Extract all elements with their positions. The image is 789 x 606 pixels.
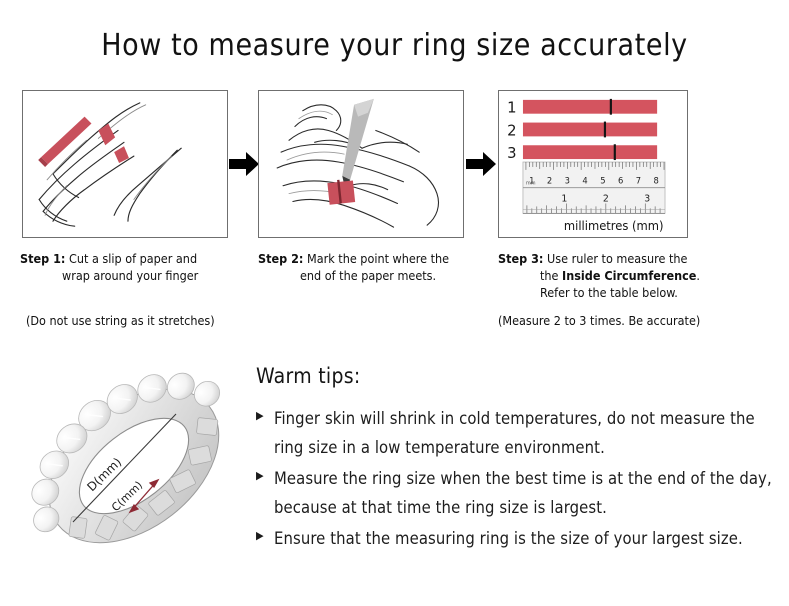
step-3-lead: Step 3: bbox=[498, 251, 543, 266]
tip-item-3: ▶ Ensure that the measuring ring is the … bbox=[256, 524, 776, 553]
ring-diagram: D(mm) C(mm) bbox=[18, 352, 250, 580]
cm-tick-4: 4 bbox=[582, 176, 587, 186]
tip-3-text: Ensure that the measuring ring is the si… bbox=[274, 524, 776, 553]
step-1-note: (Do not use string as it stretches) bbox=[26, 313, 215, 328]
step-2-line2: end of the paper meets. bbox=[258, 267, 493, 284]
hand-with-paper-slip-drawing bbox=[23, 91, 227, 237]
cm-tick-5: 5 bbox=[600, 176, 605, 186]
warm-tips-heading: Warm tips: bbox=[256, 364, 776, 388]
triangle-bullet-icon: ▶ bbox=[256, 464, 274, 481]
step-3-line2: the Inside Circumference. bbox=[498, 267, 788, 284]
ruler-unit-label: millimetres (mm) bbox=[564, 219, 664, 234]
step-3-line2-post: . bbox=[696, 268, 700, 283]
strip-label-3: 3 bbox=[507, 145, 516, 162]
inch-tick-2: 2 bbox=[603, 193, 609, 204]
ruler: 1 2 3 4 5 6 7 8 mm 1 2 3 bbox=[523, 162, 665, 213]
strip-label-1: 1 bbox=[507, 100, 516, 117]
step-3-line2-pre: the bbox=[540, 268, 562, 283]
cm-tick-7: 7 bbox=[636, 176, 641, 186]
step-3-note: (Measure 2 to 3 times. Be accurate) bbox=[498, 313, 700, 328]
step-3-caption: Step 3: Use ruler to measure the the Ins… bbox=[498, 250, 788, 301]
cm-unit-label: mm bbox=[526, 181, 536, 187]
tip-2-text: Measure the ring size when the best time… bbox=[274, 464, 776, 522]
arrow-right-icon-2 bbox=[466, 150, 496, 178]
step-2-line1: Mark the point where the bbox=[307, 251, 449, 266]
hand-marking-paper-with-pen-drawing bbox=[259, 91, 463, 237]
pen-icon bbox=[342, 99, 374, 190]
strip-label-2: 2 bbox=[507, 122, 516, 139]
tip-1-text: Finger skin will shrink in cold temperat… bbox=[274, 404, 776, 462]
ruler-and-measured-strips-diagram: 1 2 3 bbox=[499, 91, 687, 237]
cm-tick-2: 2 bbox=[547, 176, 552, 186]
step-2-lead: Step 2: bbox=[258, 251, 303, 266]
step-1-line1: Cut a slip of paper and bbox=[69, 251, 197, 266]
step-1-caption: Step 1: Cut a slip of paper and wrap aro… bbox=[20, 250, 255, 284]
paper-slip-red bbox=[38, 117, 91, 167]
inch-tick-1: 1 bbox=[561, 193, 567, 204]
inch-tick-3: 3 bbox=[644, 193, 650, 204]
step-2-illustration-panel bbox=[258, 90, 464, 238]
cm-tick-8: 8 bbox=[653, 176, 658, 186]
cm-tick-6: 6 bbox=[618, 176, 623, 186]
step-1-lead: Step 1: bbox=[20, 251, 65, 266]
warm-tips-section: Warm tips: ▶ Finger skin will shrink in … bbox=[256, 364, 776, 555]
triangle-bullet-icon: ▶ bbox=[256, 524, 274, 541]
tip-item-1: ▶ Finger skin will shrink in cold temper… bbox=[256, 404, 776, 462]
paper-band-red-marked bbox=[327, 180, 355, 205]
step-3-line3: Refer to the table below. bbox=[498, 284, 788, 301]
step-3-inside-circumference-emphasis: Inside Circumference bbox=[562, 268, 696, 283]
step-3-line1: Use ruler to measure the bbox=[547, 251, 687, 266]
arrow-right-icon-1 bbox=[229, 150, 259, 178]
step-1-line2: wrap around your finger bbox=[20, 267, 255, 284]
step-3-ruler-panel: 1 2 3 bbox=[498, 90, 688, 238]
page-title: How to measure your ring size accurately bbox=[0, 28, 789, 63]
step-2-caption: Step 2: Mark the point where the end of … bbox=[258, 250, 493, 284]
eternity-ring-photo-with-measurements: D(mm) C(mm) bbox=[18, 352, 250, 580]
triangle-bullet-icon: ▶ bbox=[256, 404, 274, 421]
tip-item-2: ▶ Measure the ring size when the best ti… bbox=[256, 464, 776, 522]
cm-tick-3: 3 bbox=[565, 176, 570, 186]
step-1-illustration-panel bbox=[22, 90, 228, 238]
